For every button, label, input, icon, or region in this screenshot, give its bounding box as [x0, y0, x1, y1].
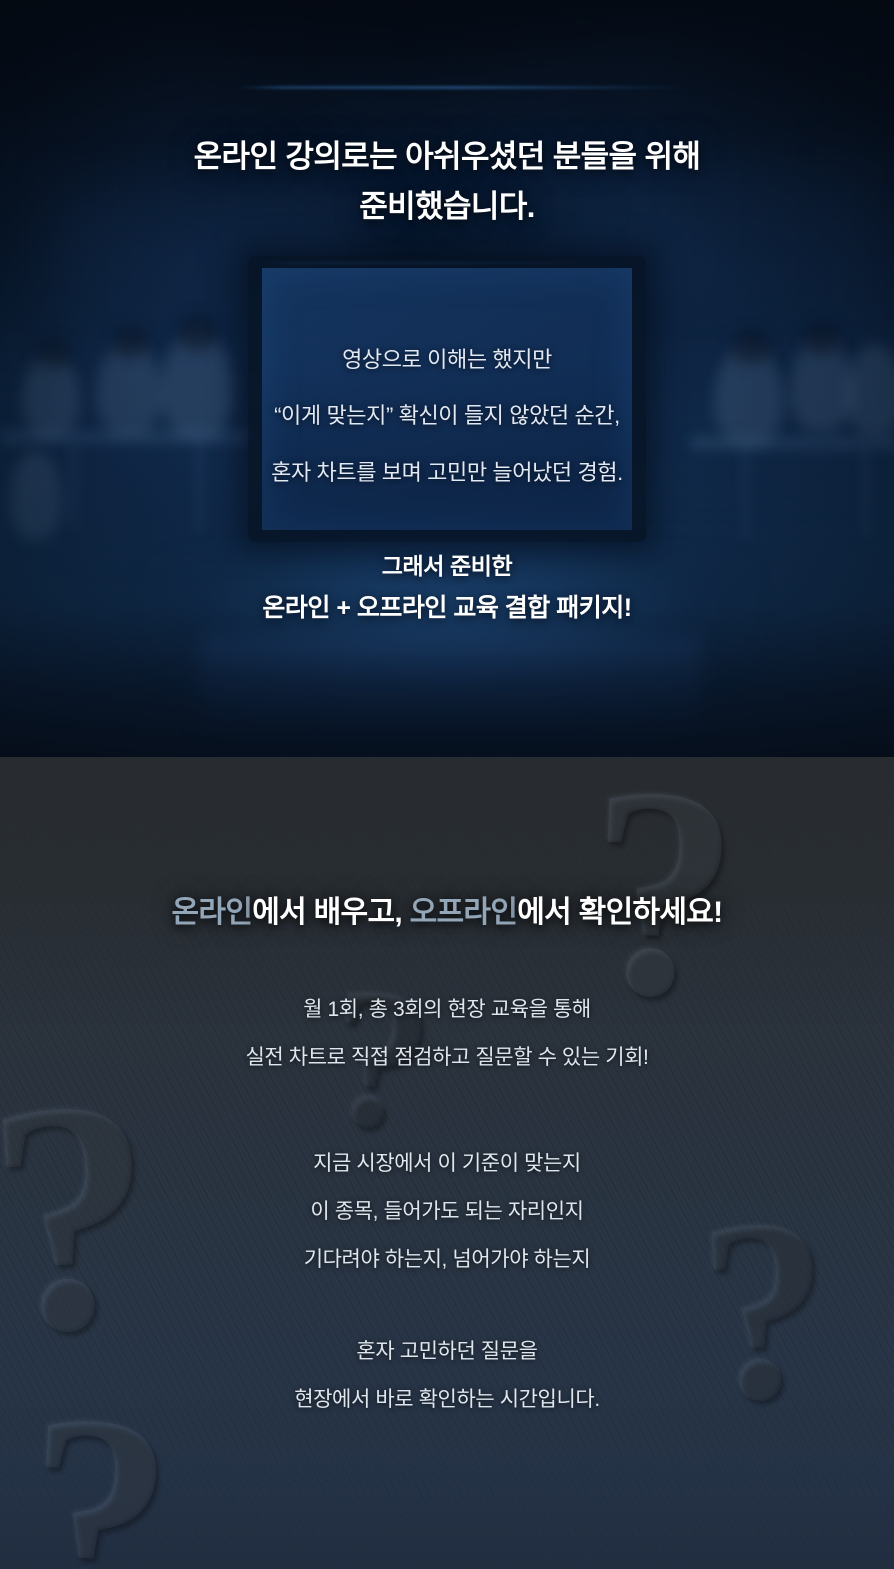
hero-heading-line-1: 온라인 강의로는 아쉬우셨던 분들을 위해 [194, 139, 701, 174]
hero-section: 온라인 강의로는 아쉬우셨던 분들을 위해 준비했습니다. 영상으로 이해는 했… [0, 0, 894, 757]
hero-cta-text: 그래서 준비한 온라인 + 오프라인 교육 결합 패키지! [0, 549, 894, 633]
question-mark-icon: ? [19, 1368, 179, 1569]
question-mark-icon: ? [0, 1047, 166, 1388]
landing-page: 온라인 강의로는 아쉬우셨던 분들을 위해 준비했습니다. 영상으로 이해는 했… [0, 0, 894, 1569]
hero-heading: 온라인 강의로는 아쉬우셨던 분들을 위해 준비했습니다. [0, 132, 894, 232]
hero-body-copy: 영상으로 이해는 했지만 “이게 맞는지” 확신이 들지 않았던 순간, 혼자 … [0, 332, 894, 501]
hero-body-line-3: 혼자 차트를 보며 고민만 늘어났던 경험. [271, 460, 623, 485]
hero-cta-line-2: 온라인 + 오프라인 교육 결합 패키지! [0, 584, 894, 633]
hero-heading-line-2: 준비했습니다. [359, 189, 535, 224]
question-mark-icon: ? [320, 955, 440, 1164]
hero-cta-line-1: 그래서 준비한 [0, 549, 894, 584]
question-mark-icon: ? [583, 757, 743, 1045]
question-mark-icon: ? [693, 1177, 836, 1443]
question-mark-watermark-layer: ? ? ? ? ? [0, 757, 894, 1569]
hero-body-line-1: 영상으로 이해는 했지만 [342, 347, 552, 372]
hero-body-line-2: “이게 맞는지” 확신이 들지 않았던 순간, [274, 403, 620, 428]
